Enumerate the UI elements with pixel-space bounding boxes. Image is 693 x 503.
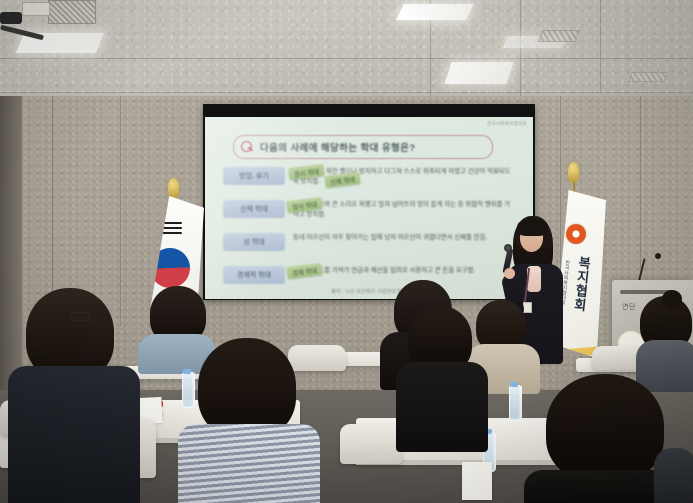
attendee-torso [396,362,488,452]
projection-screen: 한국사회복지협의회 다음의 사례에 해당하는 학대 유형은? 방임, 유기 때리… [205,117,533,299]
lecture-room-photo: 한국사회복지협의회 다음의 사례에 해당하는 학대 유형은? 방임, 유기 때리… [0,0,693,503]
org-flag-text: 복지협회 [569,255,594,313]
eyeglasses-icon [70,312,90,321]
attendee-head [546,374,664,482]
attendee-9 [654,448,693,503]
presenter-hair-front [517,218,548,236]
attendee-hair-bun [662,290,682,308]
attendee-2 [178,338,320,503]
attendee-torso [8,366,140,503]
paper-sheet [462,462,492,500]
circle-emblem-icon [566,224,586,244]
ceiling-seam [0,58,693,59]
trigram-bar [162,232,182,234]
ceiling-seam [520,0,521,96]
attendee-torso [654,448,693,503]
presenter-hand [504,268,515,279]
projector-body [0,12,22,24]
ceiling-vent [48,0,96,24]
podium-label: 연단 [622,302,636,312]
ceiling-light-panel [444,62,513,84]
wall-seam [52,96,53,306]
chair [340,424,402,464]
screen-glare [205,117,533,299]
ceiling-vent [538,30,580,42]
flag-finial [168,178,179,198]
water-bottle [509,385,522,421]
attendee-head [198,338,296,438]
trigram-bar [162,222,182,224]
attendee-3 [394,306,490,446]
attendee-1 [8,288,140,503]
ceiling-seam [600,0,601,92]
ceiling-seam [0,92,693,93]
trigram-bar [162,227,182,229]
flag-finial [568,162,579,182]
attendee-torso [178,424,320,503]
projector-mount [22,2,50,16]
wall-seam [640,96,641,276]
ceiling-light-panel [396,4,474,20]
ceiling-vent [629,72,668,82]
gooseneck-mic-head [655,253,661,259]
microphone-head [504,244,512,252]
bottle-cap [510,382,518,387]
